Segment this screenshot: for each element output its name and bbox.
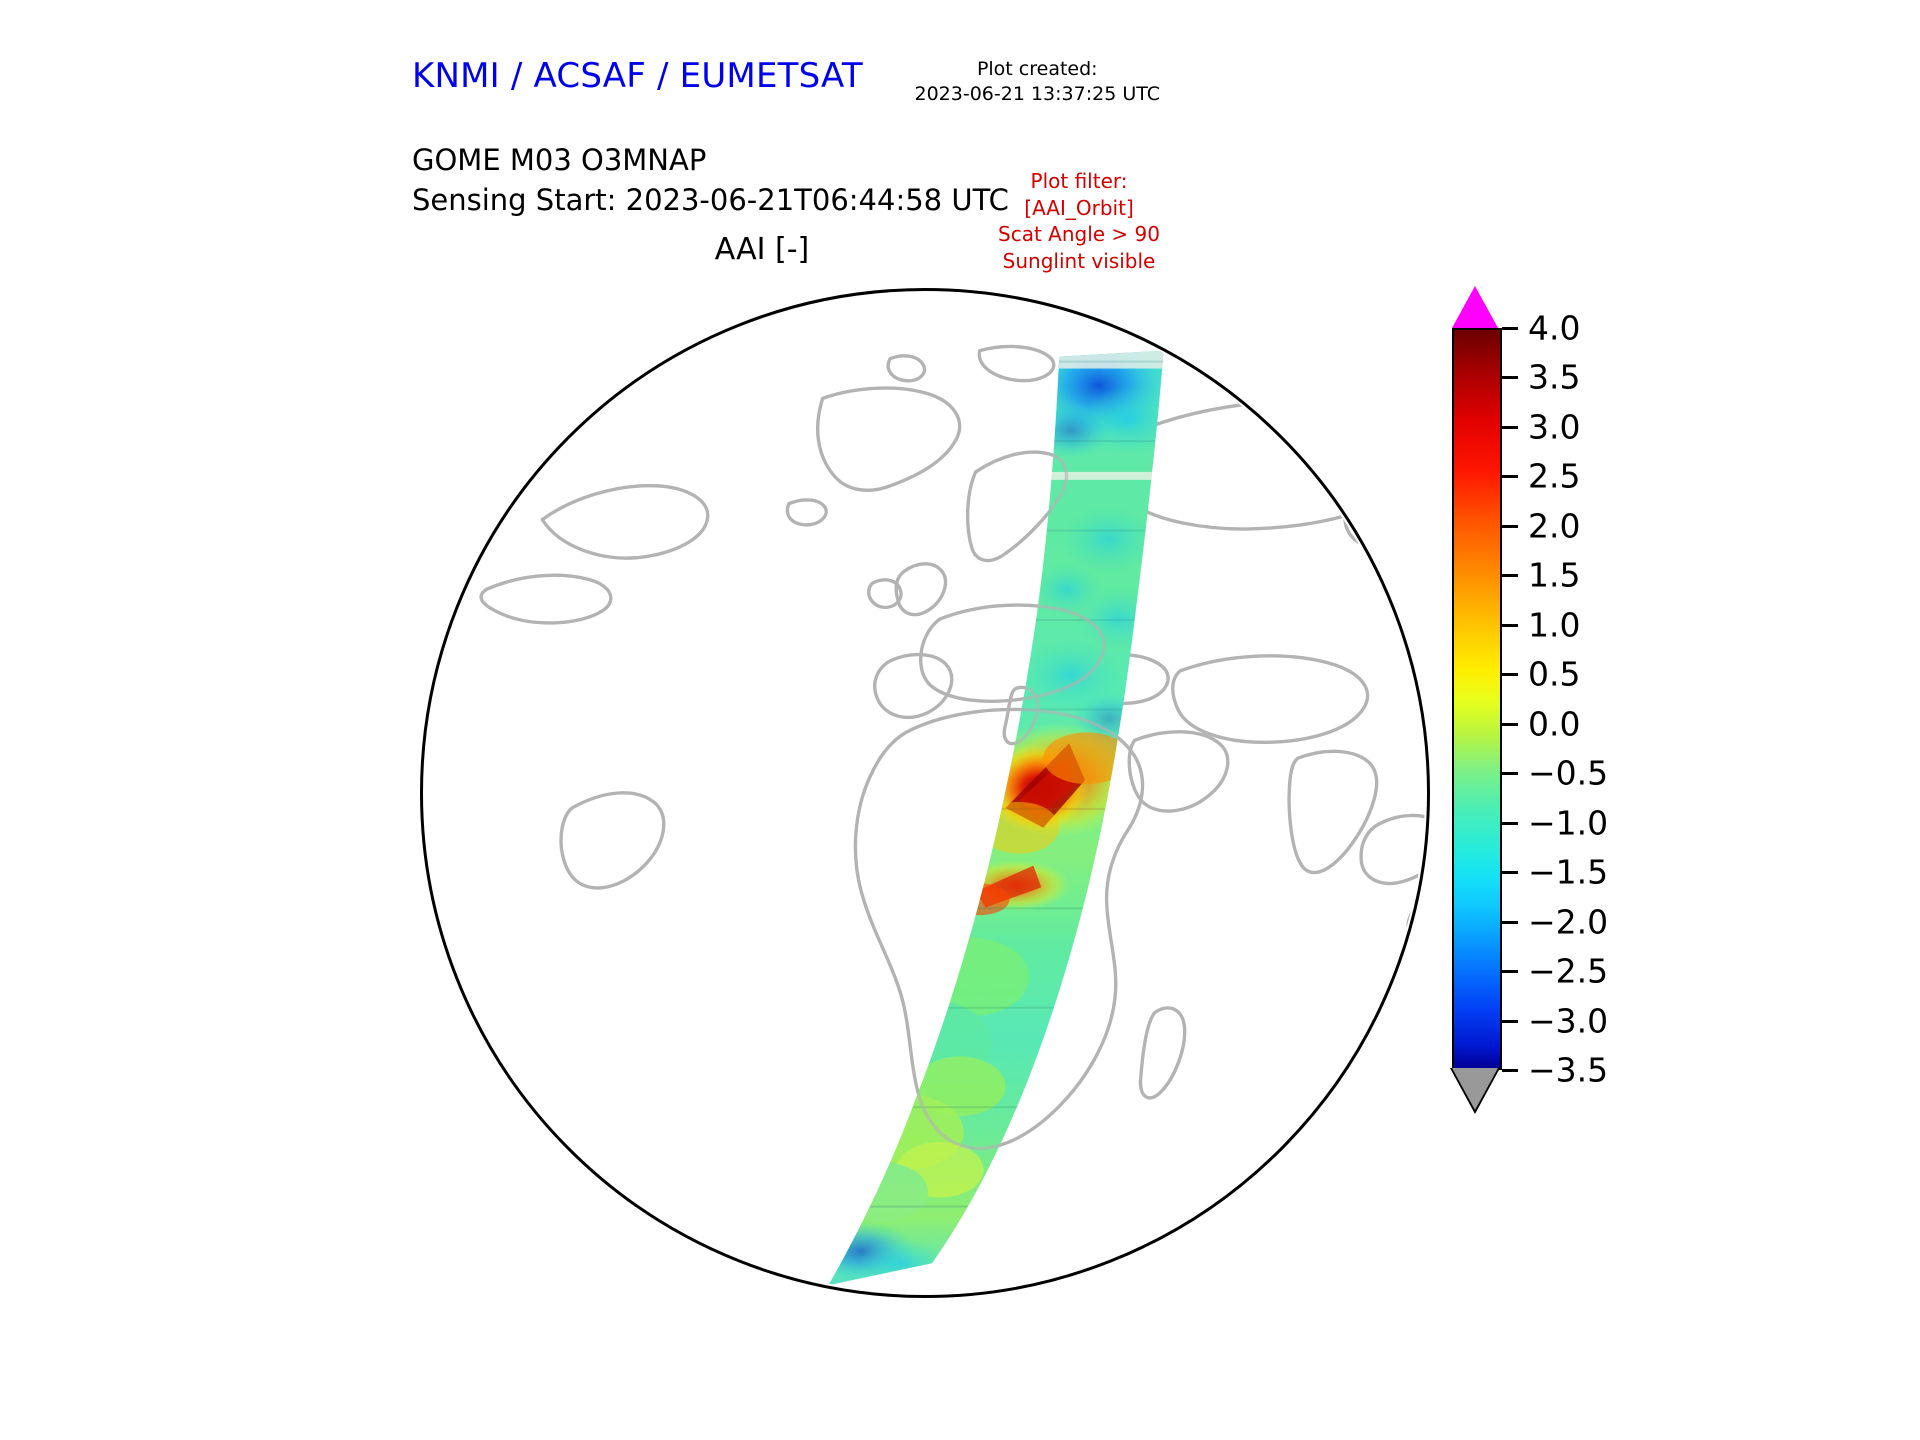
plot-created-block: Plot created: 2023-06-21 13:37:25 UTC	[915, 57, 1161, 107]
colorbar-tick-label: 4.0	[1528, 312, 1580, 345]
instrument-product-line: GOME M03 O3MNAP	[412, 140, 1009, 180]
colorbar-tick-mark	[1502, 921, 1518, 924]
plot-filter-title: Plot filter:	[998, 168, 1160, 195]
colorbar-tick-label: −0.5	[1528, 757, 1608, 790]
colorbar-tick-label: −3.5	[1528, 1054, 1608, 1087]
colorbar-tick-mark	[1502, 1020, 1518, 1023]
colorbar-tick-mark	[1502, 574, 1518, 577]
sensing-start-line: Sensing Start: 2023-06-21T06:44:58 UTC	[412, 180, 1009, 220]
colorbar-tick-label: −1.0	[1528, 806, 1608, 839]
colorbar-tick-mark	[1502, 426, 1518, 429]
colorbar-tick-label: 3.0	[1528, 410, 1580, 443]
colorbar-tick-label: 3.5	[1528, 361, 1580, 394]
colorbar-tick-mark	[1502, 525, 1518, 528]
colorbar-under-arrow	[1452, 1068, 1498, 1110]
colorbar-tick-mark	[1502, 624, 1518, 627]
colorbar-tick-label: 2.0	[1528, 509, 1580, 542]
colorbar-tick-label: 0.5	[1528, 658, 1580, 691]
colorbar-tick-label: −3.0	[1528, 1004, 1608, 1037]
plot-created-timestamp: 2023-06-21 13:37:25 UTC	[915, 82, 1161, 107]
colorbar-tick-mark	[1502, 723, 1518, 726]
orbit-swath	[801, 331, 1199, 1295]
colorbar: 4.03.53.02.52.01.51.00.50.0−0.5−1.0−1.5−…	[1440, 286, 1760, 1106]
organization-title: KNMI / ACSAF / EUMETSAT	[412, 56, 863, 96]
globe-svg	[423, 291, 1427, 1295]
colorbar-tick-label: −1.5	[1528, 856, 1608, 889]
dust-plume-sahara	[980, 722, 1137, 853]
plot-created-label: Plot created:	[915, 57, 1161, 82]
colorbar-tick-label: 0.0	[1528, 707, 1580, 740]
colorbar-tick-label: 2.5	[1528, 460, 1580, 493]
product-info-block: GOME M03 O3MNAP Sensing Start: 2023-06-2…	[412, 140, 1009, 220]
colorbar-over-arrow	[1452, 286, 1498, 328]
plot-filter-condition: Scat Angle > 90	[998, 221, 1160, 248]
colorbar-tick-label: −2.0	[1528, 905, 1608, 938]
plot-filter-name: [AAI_Orbit]	[998, 195, 1160, 222]
globe-map	[420, 288, 1430, 1298]
colorbar-tick-mark	[1502, 970, 1518, 973]
colorbar-tick-mark	[1502, 376, 1518, 379]
plot-filter-block: Plot filter: [AAI_Orbit] Scat Angle > 90…	[998, 168, 1160, 274]
colorbar-tick-label: 1.0	[1528, 608, 1580, 641]
colorbar-gradient	[1452, 328, 1502, 1070]
colorbar-tick-mark	[1502, 772, 1518, 775]
plot-filter-note: Sunglint visible	[998, 248, 1160, 275]
colorbar-tick-mark	[1502, 1069, 1518, 1072]
colorbar-tick-mark	[1502, 822, 1518, 825]
colorbar-tick-mark	[1502, 475, 1518, 478]
colorbar-tick-mark	[1502, 327, 1518, 330]
colorbar-tick-label: 1.5	[1528, 559, 1580, 592]
colorbar-tick-mark	[1502, 673, 1518, 676]
colorbar-tick-label: −2.5	[1528, 955, 1608, 988]
globe-disc	[420, 288, 1430, 1298]
colorbar-tick-mark	[1502, 871, 1518, 874]
